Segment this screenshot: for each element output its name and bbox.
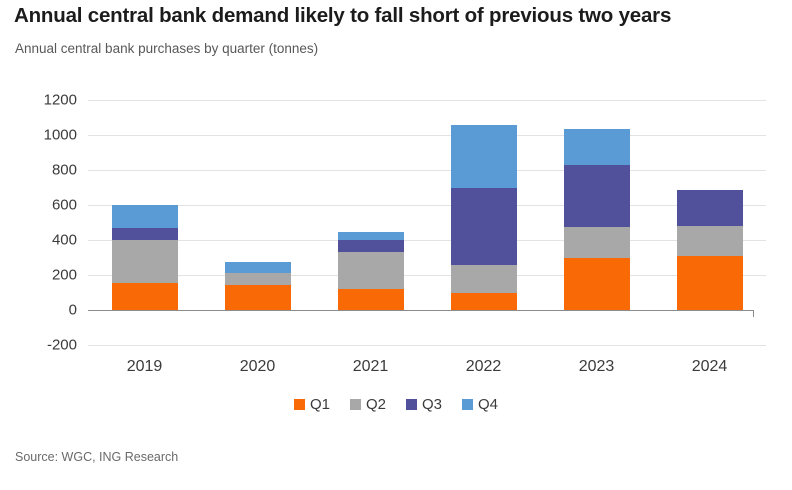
bar-segment-q2[interactable] xyxy=(112,240,178,283)
bar-group: 2024 xyxy=(653,100,766,345)
chart-legend: Q1Q2Q3Q4 xyxy=(0,396,792,413)
bar-segment-q4[interactable] xyxy=(451,125,517,189)
stacked-bar[interactable] xyxy=(225,262,291,310)
bar-segment-q2[interactable] xyxy=(338,252,404,289)
bar-segment-q3[interactable] xyxy=(112,228,178,240)
y-axis-tick-label: -200 xyxy=(7,337,77,354)
bar-segment-q1[interactable] xyxy=(225,285,291,310)
x-axis-tick-label: 2020 xyxy=(240,358,276,376)
bar-series-container: 201920202021202220232024 xyxy=(88,100,766,345)
bar-segment-q3[interactable] xyxy=(564,165,630,227)
stacked-bar[interactable] xyxy=(564,129,630,310)
bar-segment-q2[interactable] xyxy=(677,226,743,256)
stacked-bar[interactable] xyxy=(338,232,404,310)
y-axis-tick-label: 800 xyxy=(7,162,77,179)
y-axis-tick-label: 200 xyxy=(7,267,77,284)
legend-swatch-icon xyxy=(350,399,361,410)
y-axis-tick-label: 400 xyxy=(7,232,77,249)
legend-swatch-icon xyxy=(406,399,417,410)
legend-label: Q4 xyxy=(478,396,498,413)
stacked-bar[interactable] xyxy=(677,190,743,310)
bar-segment-q3[interactable] xyxy=(451,188,517,265)
y-axis-tick-label: 1000 xyxy=(7,127,77,144)
page-title: Annual central bank demand likely to fal… xyxy=(14,4,782,28)
y-axis-tick-label: 600 xyxy=(7,197,77,214)
y-axis-tick-label: 0 xyxy=(7,302,77,319)
bar-segment-q4[interactable] xyxy=(112,205,178,228)
y-axis-tick-label: 1200 xyxy=(7,92,77,109)
legend-item-q3[interactable]: Q3 xyxy=(406,396,442,413)
bar-segment-q1[interactable] xyxy=(564,258,630,310)
legend-swatch-icon xyxy=(294,399,305,410)
x-axis-tick-label: 2022 xyxy=(466,358,502,376)
bar-group: 2021 xyxy=(314,100,427,345)
legend-label: Q1 xyxy=(310,396,330,413)
x-axis-tick-label: 2023 xyxy=(579,358,615,376)
legend-swatch-icon xyxy=(462,399,473,410)
bar-segment-q3[interactable] xyxy=(677,190,743,226)
stacked-bar[interactable] xyxy=(112,205,178,310)
chart-page: Annual central bank demand likely to fal… xyxy=(0,0,792,490)
bar-segment-q1[interactable] xyxy=(112,283,178,310)
bar-group: 2019 xyxy=(88,100,201,345)
bar-group: 2022 xyxy=(427,100,540,345)
legend-item-q2[interactable]: Q2 xyxy=(350,396,386,413)
bar-segment-q2[interactable] xyxy=(451,265,517,292)
bar-segment-q2[interactable] xyxy=(564,227,630,259)
bar-group: 2023 xyxy=(540,100,653,345)
gridline xyxy=(88,345,766,346)
bar-segment-q4[interactable] xyxy=(225,262,291,273)
plot-area: -200020040060080010001200 20192020202120… xyxy=(88,100,766,345)
legend-label: Q3 xyxy=(422,396,442,413)
x-axis-tick-label: 2019 xyxy=(127,358,163,376)
x-axis-tick-label: 2021 xyxy=(353,358,389,376)
source-note: Source: WGC, ING Research xyxy=(15,450,178,464)
bar-group: 2020 xyxy=(201,100,314,345)
x-axis-tick-label: 2024 xyxy=(692,358,728,376)
bar-segment-q1[interactable] xyxy=(677,256,743,310)
bar-segment-q2[interactable] xyxy=(225,273,291,284)
bar-segment-q4[interactable] xyxy=(564,129,630,165)
legend-label: Q2 xyxy=(366,396,386,413)
bar-segment-q3[interactable] xyxy=(338,240,404,252)
legend-item-q1[interactable]: Q1 xyxy=(294,396,330,413)
bar-segment-q4[interactable] xyxy=(338,232,404,240)
stacked-bar[interactable] xyxy=(451,125,517,311)
bar-segment-q1[interactable] xyxy=(451,293,517,311)
legend-item-q4[interactable]: Q4 xyxy=(462,396,498,413)
bar-segment-q1[interactable] xyxy=(338,289,404,310)
chart-subtitle: Annual central bank purchases by quarter… xyxy=(15,41,318,56)
